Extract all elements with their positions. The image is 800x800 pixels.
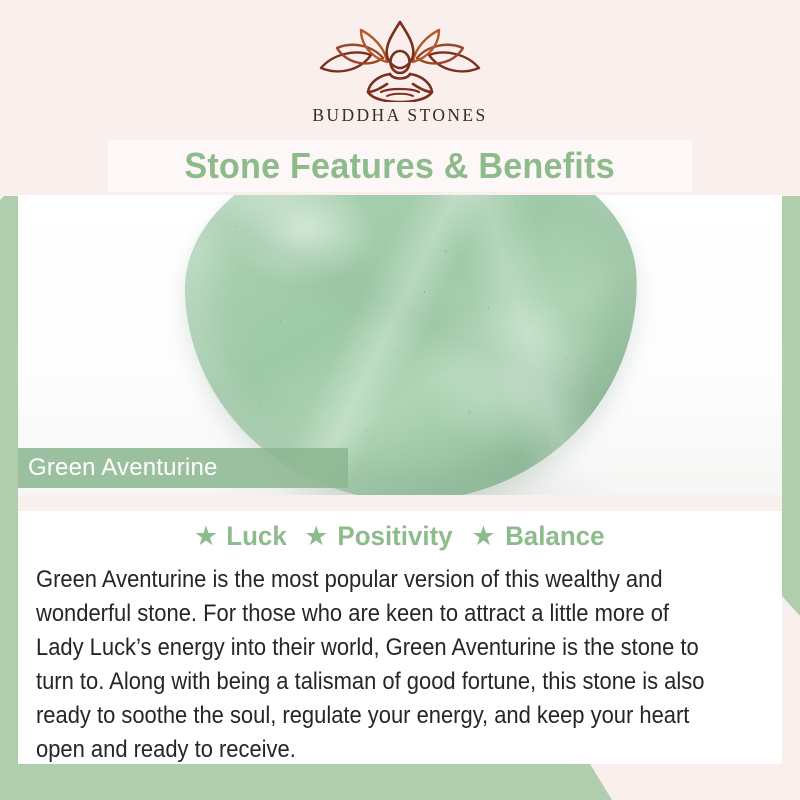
panel-top-tint: [18, 495, 782, 511]
brand-logo: BUDDHA STONES: [18, 18, 782, 126]
star-icon: ★: [304, 523, 328, 550]
page-title: Stone Features & Benefits: [185, 145, 615, 187]
star-icon: ★: [194, 523, 218, 550]
lotus-meditation-icon: [311, 18, 489, 102]
keyword-item-luck: ★ Luck: [194, 521, 288, 552]
stone-name-banner: Green Aventurine: [18, 448, 348, 488]
frame-accent-left: [0, 182, 18, 800]
keyword-label: Balance: [505, 521, 604, 552]
star-icon: ★: [471, 523, 495, 550]
title-band: Stone Features & Benefits: [108, 140, 692, 192]
keyword-label: Luck: [226, 521, 287, 552]
brand-name: BUDDHA STONES: [312, 105, 487, 126]
keyword-label: Positivity: [338, 521, 453, 552]
keyword-list: ★ Luck ★ Positivity ★ Balance: [18, 521, 782, 552]
content-panel: ★ Luck ★ Positivity ★ Balance Green Aven…: [18, 495, 782, 764]
stone-name-label: Green Aventurine: [18, 454, 218, 482]
stone-description: Green Aventurine is the most popular ver…: [36, 563, 717, 767]
keyword-item-positivity: ★ Positivity: [304, 521, 455, 552]
keyword-item-balance: ★ Balance: [471, 521, 606, 552]
frame-accent-bottom-left: [0, 764, 800, 800]
poster-canvas: BUDDHA STONES Stone Features & Benefits …: [0, 0, 800, 800]
